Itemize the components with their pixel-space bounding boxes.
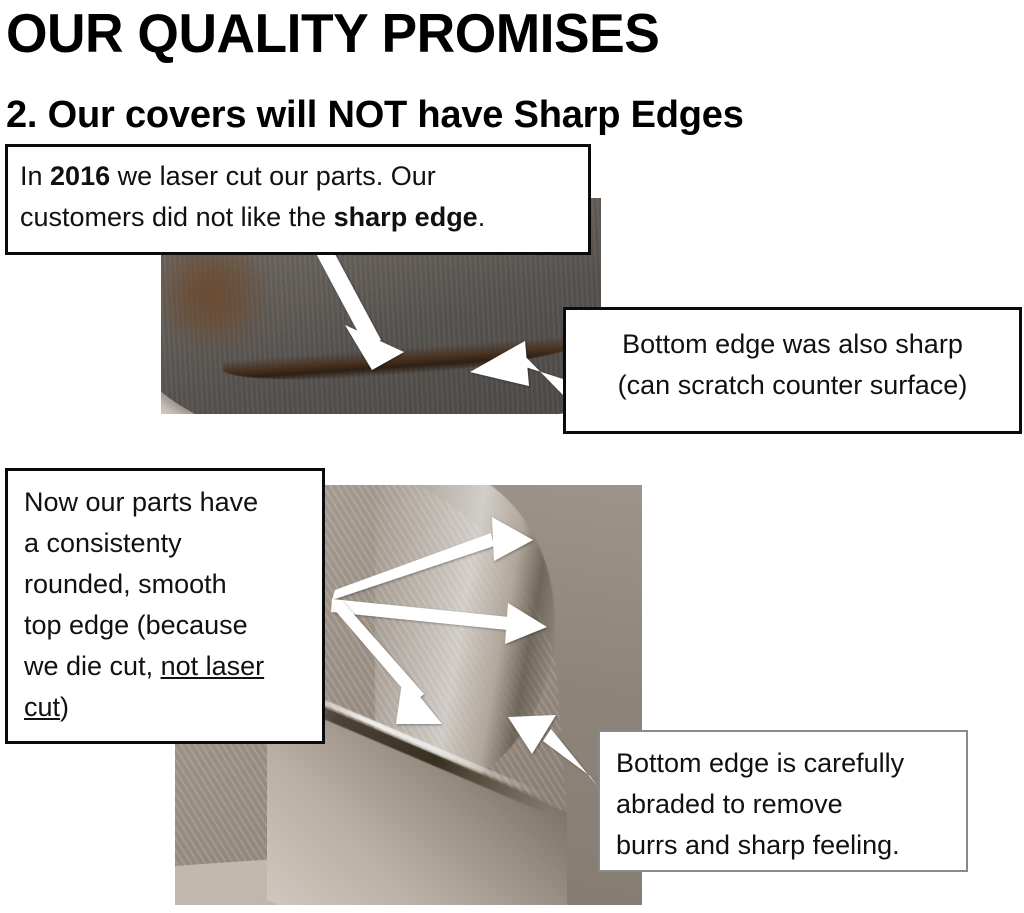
callout-rounded-smooth-edge: Now our parts have a consistenty rounded… xyxy=(5,468,325,744)
callout-laser-cut-line-2: customers did not like the sharp edge. xyxy=(20,197,576,238)
callout-rounded-line-2: a consistenty xyxy=(24,523,312,564)
slide-canvas: OUR QUALITY PROMISES 2. Our covers will … xyxy=(0,0,1024,913)
callout-bottom-sharp-line-2: (can scratch counter surface) xyxy=(580,365,1005,406)
callout-rounded-line-1: Now our parts have xyxy=(24,482,312,523)
callout-rounded-line5-pre: we die cut, xyxy=(24,651,161,681)
callout-abraded-bottom-edge: Bottom edge is carefully abraded to remo… xyxy=(598,730,968,872)
callout-abraded-line-2: abraded to remove xyxy=(616,784,954,825)
callout-laser-cut-sharp-edge: sharp edge xyxy=(334,202,478,232)
callout-rounded-line-4: top edge (because xyxy=(24,605,312,646)
callout-laser-cut-line1-pre: In xyxy=(20,161,50,191)
callout-laser-cut: In 2016 we laser cut our parts. Our cust… xyxy=(5,144,591,255)
callout-laser-cut-line-1: In 2016 we laser cut our parts. Our xyxy=(20,156,576,197)
callout-rounded-line5-underline: not laser xyxy=(161,651,265,681)
callout-laser-cut-line2-post: . xyxy=(478,202,486,232)
callout-rounded-line-3: rounded, smooth xyxy=(24,564,312,605)
callout-rounded-line6-underline: cut xyxy=(24,692,60,722)
callout-bottom-sharp-line-1: Bottom edge was also sharp xyxy=(580,324,1005,365)
callout-rounded-line6-post: ) xyxy=(60,692,69,722)
callout-laser-cut-year: 2016 xyxy=(50,161,110,191)
callout-abraded-line-3: burrs and sharp feeling. xyxy=(616,825,954,866)
callout-rounded-line-5: we die cut, not laser xyxy=(24,646,312,687)
callout-laser-cut-line1-post: we laser cut our parts. Our xyxy=(110,161,436,191)
callout-bottom-edge-sharp: Bottom edge was also sharp (can scratch … xyxy=(563,307,1022,434)
page-subtitle: 2. Our covers will NOT have Sharp Edges xyxy=(6,92,744,138)
callout-rounded-line-6: cut) xyxy=(24,687,312,728)
page-title: OUR QUALITY PROMISES xyxy=(6,2,659,64)
callout-laser-cut-line2-pre: customers did not like the xyxy=(20,202,334,232)
callout-abraded-line-1: Bottom edge is carefully xyxy=(616,743,954,784)
